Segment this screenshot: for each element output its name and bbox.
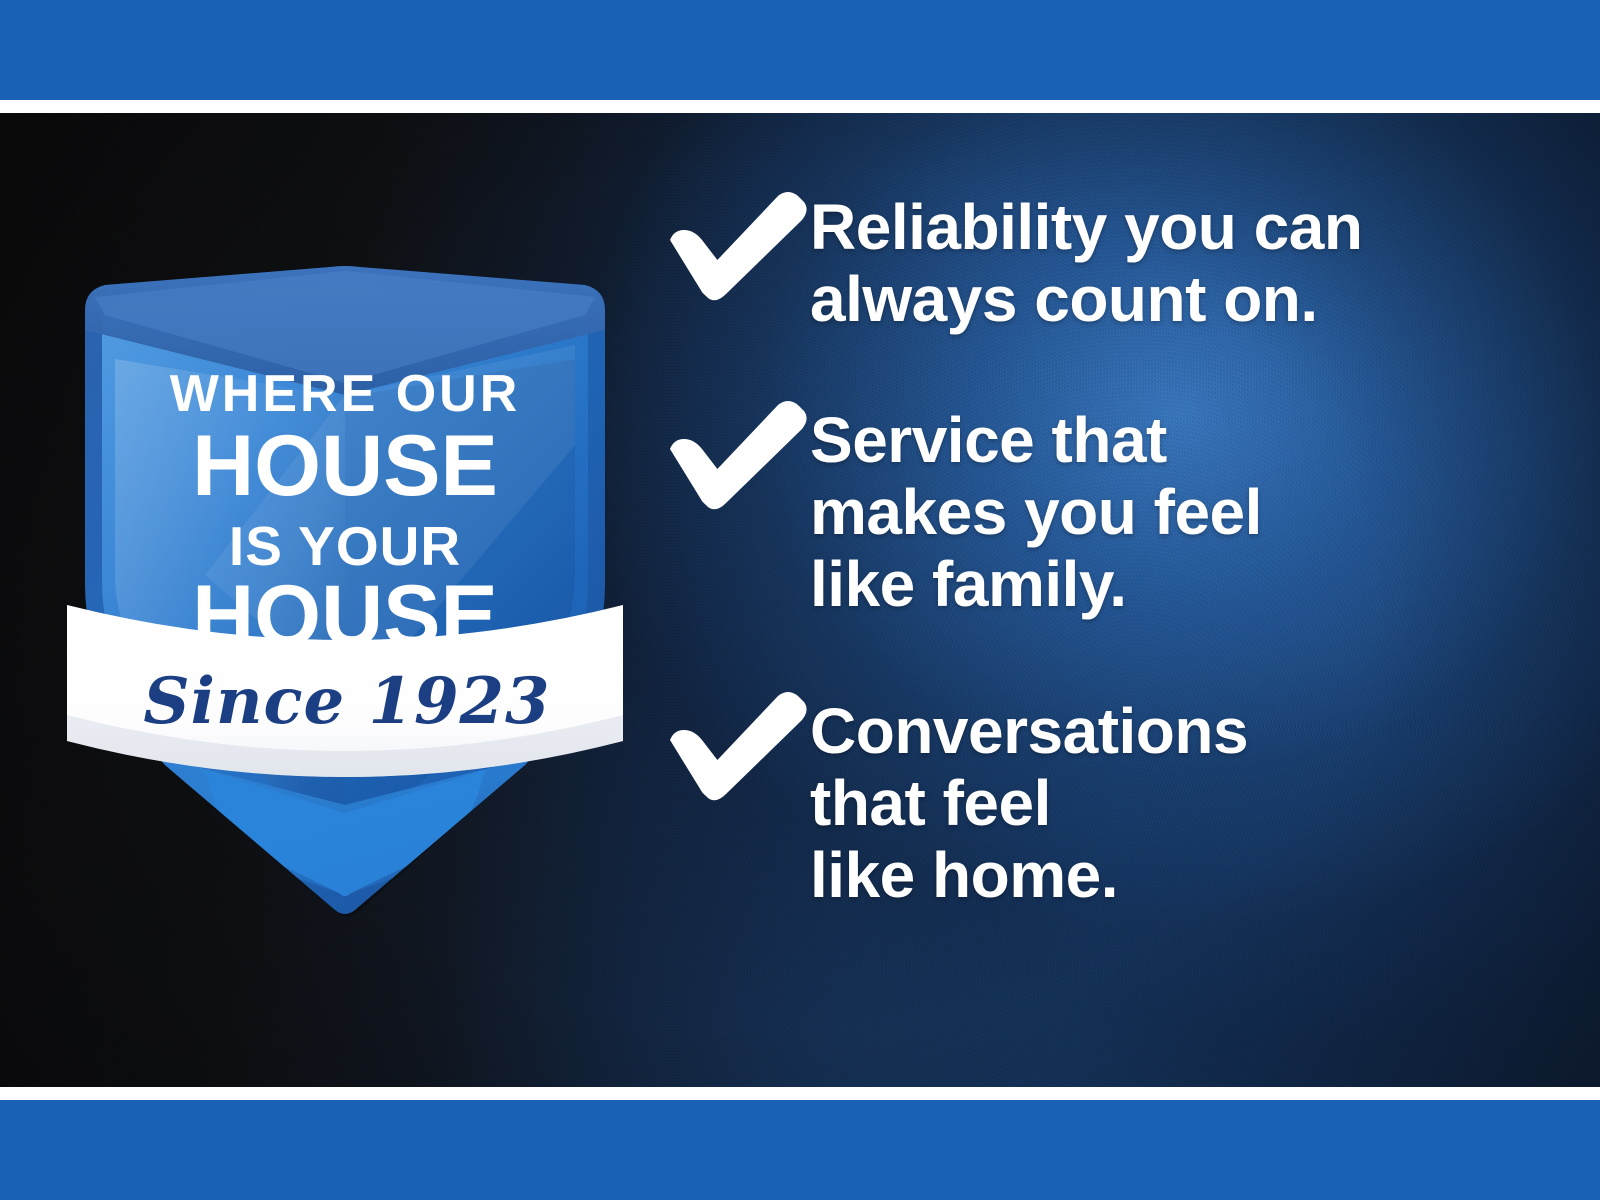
- shield-logo: WHERE OUR HOUSE IS YOUR HOUSE Since 1923: [55, 145, 635, 935]
- bottom-white-divider: [0, 1087, 1600, 1100]
- promo-graphic: WHERE OUR HOUSE IS YOUR HOUSE Since 1923: [0, 0, 1600, 1200]
- benefit-line: that feel: [810, 768, 1540, 840]
- benefit-line: makes you feel: [810, 477, 1540, 549]
- benefit-text: Service that makes you feel like family.: [810, 399, 1540, 620]
- bottom-brand-bar: [0, 1100, 1600, 1200]
- benefit-line: Reliability you can: [810, 192, 1540, 264]
- benefits-list: Reliability you can always count on. Ser…: [660, 190, 1540, 975]
- top-brand-bar: [0, 0, 1600, 100]
- check-icon: [660, 399, 810, 515]
- shield-line-1: WHERE OUR: [170, 365, 521, 423]
- check-icon: [660, 190, 810, 306]
- benefit-line: Service that: [810, 405, 1540, 477]
- top-white-divider: [0, 100, 1600, 113]
- benefit-item: Reliability you can always count on.: [660, 190, 1540, 335]
- benefit-text: Conversations that feel like home.: [810, 690, 1540, 911]
- benefit-line: like family.: [810, 549, 1540, 621]
- benefit-line: always count on.: [810, 264, 1540, 336]
- ribbon-text: Since 1923: [143, 664, 550, 739]
- benefit-line: like home.: [810, 840, 1540, 912]
- benefit-text: Reliability you can always count on.: [810, 190, 1540, 335]
- benefit-item: Service that makes you feel like family.: [660, 399, 1540, 620]
- check-icon: [660, 690, 810, 806]
- benefit-line: Conversations: [810, 696, 1540, 768]
- benefit-item: Conversations that feel like home.: [660, 690, 1540, 911]
- shield-line-2: HOUSE: [192, 418, 498, 514]
